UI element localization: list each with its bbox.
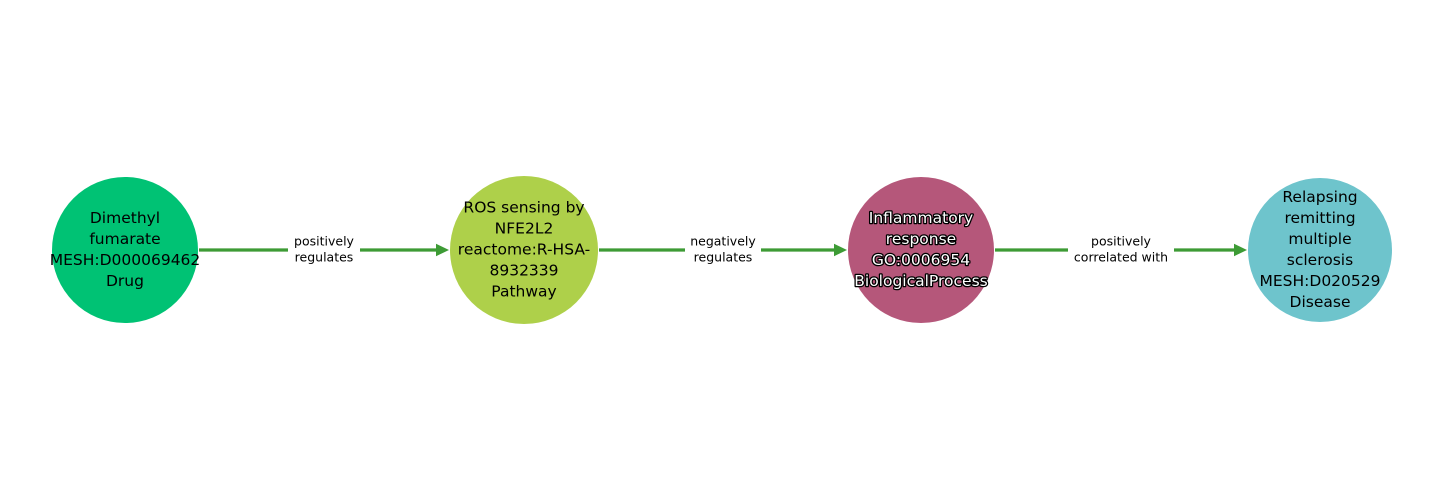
node-label-line: reactome:R-HSA- (458, 241, 590, 259)
node-label-line: Inflammatory (869, 209, 973, 227)
node-label-line: GO:0006954 (872, 251, 970, 269)
edge-label-line: correlated with (1074, 250, 1168, 265)
node-label-line: sclerosis (1287, 251, 1353, 269)
edge-label-line: negatively (690, 234, 756, 249)
node-label-line: Relapsing (1282, 188, 1357, 206)
knowledge-graph-canvas: DimethylfumarateMESH:D000069462DrugROS s… (0, 0, 1440, 500)
node-label-line: MESH:D020529 (1260, 272, 1381, 290)
edge-label: positivelyregulates (294, 234, 355, 265)
graph-node[interactable]: InflammatoryresponseGO:0006954Biological… (848, 177, 994, 323)
edge-label-line: positively (1091, 234, 1152, 249)
node-label-line: ROS sensing by (463, 199, 584, 217)
node-label-line: fumarate (89, 230, 160, 248)
node-label-line: Dimethyl (90, 209, 160, 227)
node-label-line: response (886, 230, 956, 248)
node-label-line: BiologicalProcess (854, 272, 987, 290)
graph-node[interactable]: RelapsingremittingmultiplesclerosisMESH:… (1248, 178, 1392, 322)
edge-label-line: regulates (295, 250, 354, 265)
graph-node[interactable]: ROS sensing byNFE2L2reactome:R-HSA-89323… (450, 176, 598, 324)
node-label-line: MESH:D000069462 (50, 251, 201, 269)
node-label-line: remitting (1284, 209, 1355, 227)
edge-label-line: regulates (694, 250, 753, 265)
edge-label-line: positively (294, 234, 355, 249)
node-label-line: NFE2L2 (495, 220, 554, 238)
circle-node-icon[interactable] (52, 177, 198, 323)
edge-label: negativelyregulates (690, 234, 756, 265)
node-label-line: multiple (1288, 230, 1351, 248)
node-label-line: Drug (106, 272, 144, 290)
node-label-line: Pathway (491, 283, 556, 301)
node-label-line: 8932339 (489, 262, 558, 280)
circle-node-icon[interactable] (848, 177, 994, 323)
node-label-line: Disease (1290, 293, 1351, 311)
